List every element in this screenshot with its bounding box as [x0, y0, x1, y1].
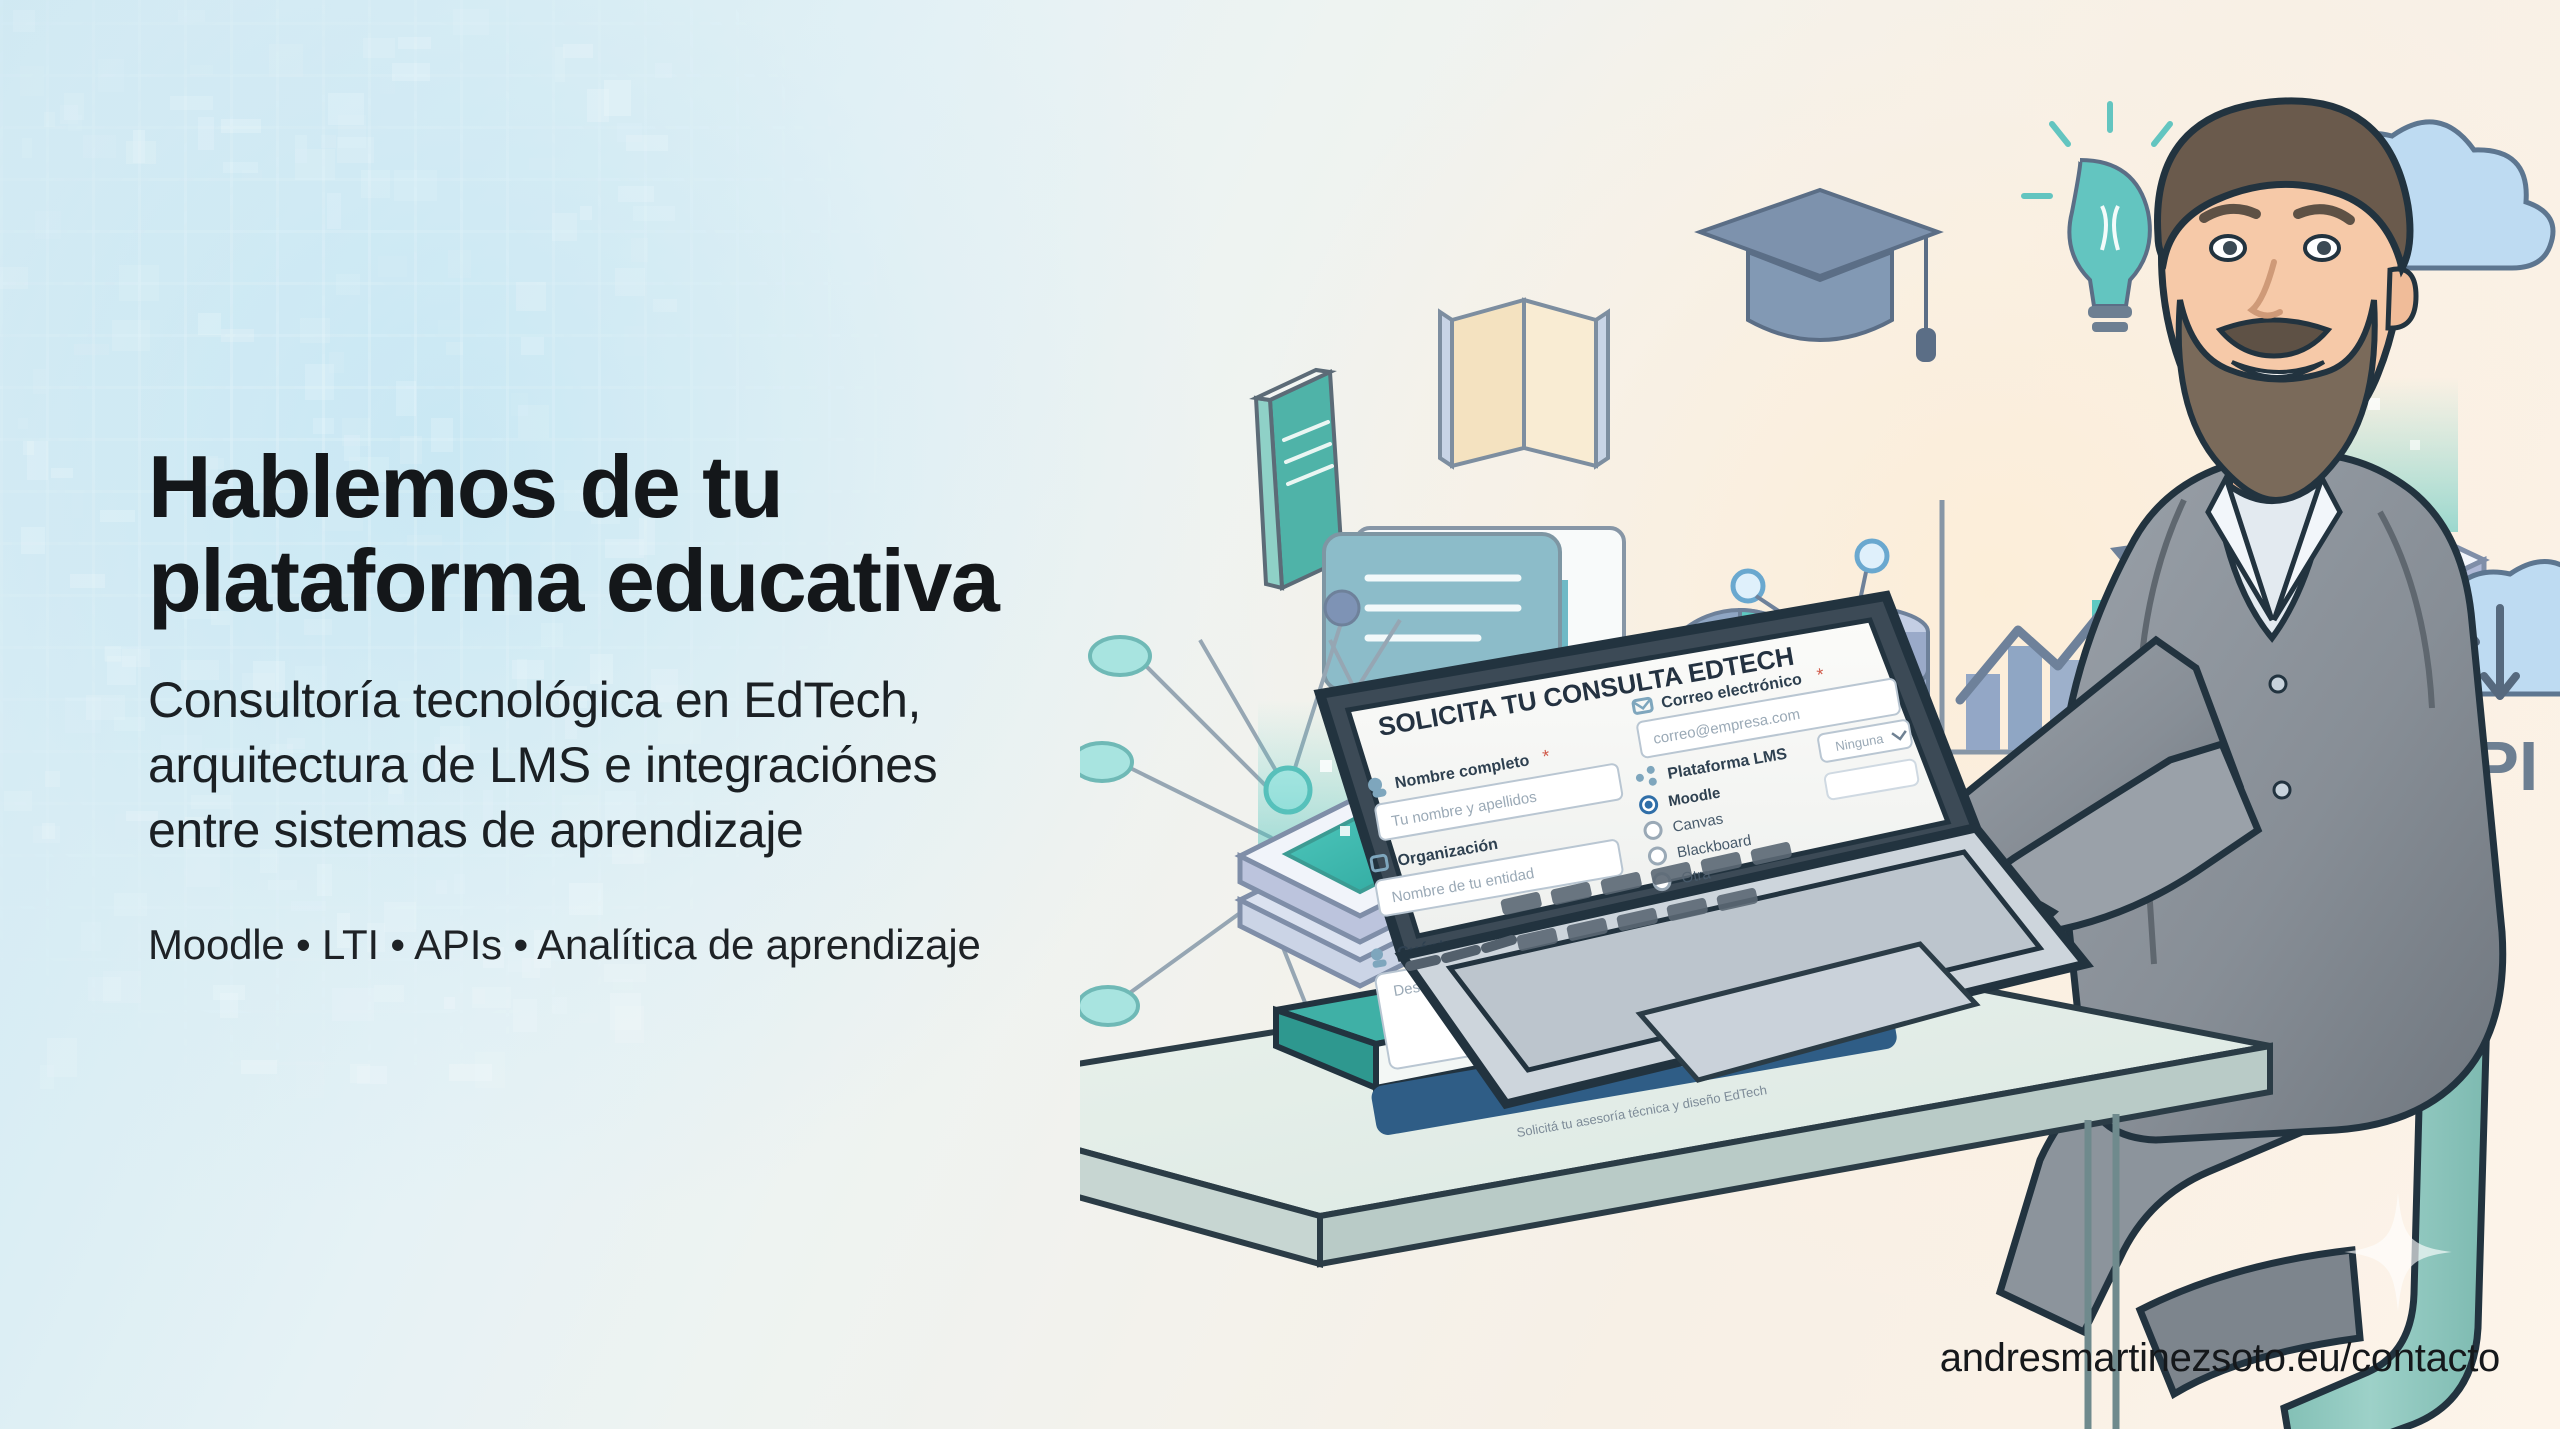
open-book-icon: [1440, 300, 1608, 466]
radio-canvas[interactable]: [1644, 821, 1662, 839]
hero-illustration: API: [1080, 0, 2560, 1429]
shirt-button: [2270, 676, 2286, 692]
subheadline-line-2: arquitectura de LMS e integraciónes: [148, 733, 1188, 798]
headline-line-1: Hablemos de tu: [148, 440, 1188, 534]
person-consultant: [1857, 101, 2503, 1394]
tagline: Moodle • LTI • APIs • Analítica de apren…: [148, 919, 1188, 972]
footer-url[interactable]: andresmartinezsoto.eu/contacto: [1940, 1336, 2500, 1381]
subheadline: Consultoría tecnológica en EdTech, arqui…: [148, 668, 1188, 863]
page-title: Hablemos de tu plataforma educativa: [148, 440, 1188, 628]
graduation-cap-icon: [1700, 190, 1938, 362]
headline-line-2: plataforma educativa: [148, 534, 1188, 628]
hero-text-column: Hablemos de tu plataforma educativa Cons…: [148, 440, 1188, 1014]
shirt-button: [2274, 782, 2290, 798]
ear: [2388, 269, 2416, 328]
subheadline-line-1: Consultoría tecnológica en EdTech,: [148, 668, 1188, 733]
illustration-svg: API: [1080, 0, 2560, 1429]
subheadline-line-3: entre sistemas de aprendizaje: [148, 798, 1188, 863]
edtech-contact-banner: Hablemos de tu plataforma educativa Cons…: [0, 0, 2560, 1429]
radio-blackboard[interactable]: [1648, 847, 1666, 865]
